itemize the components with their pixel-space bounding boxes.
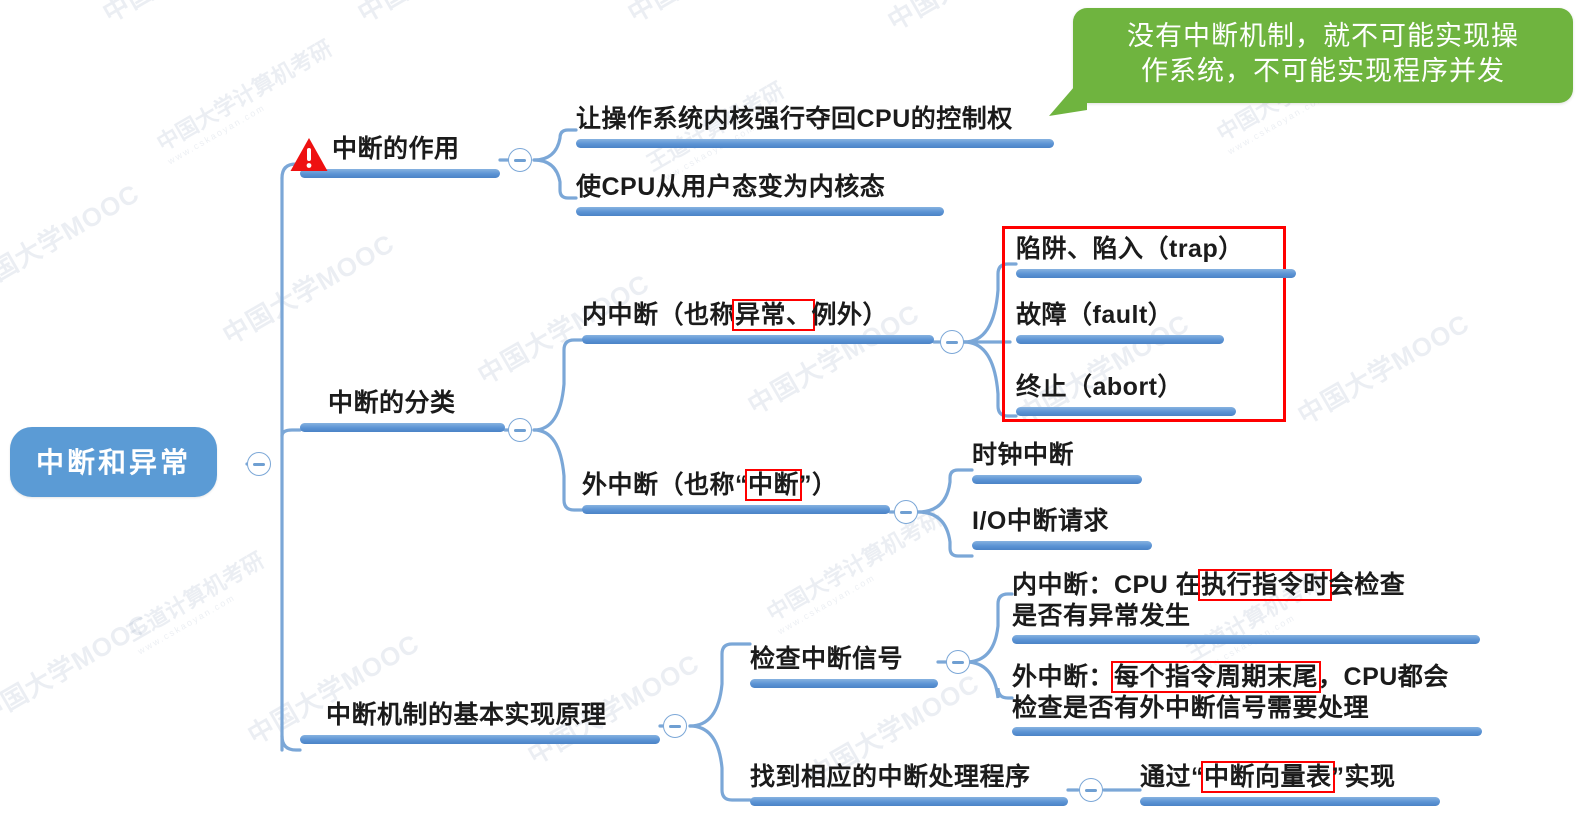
leaf-vector-table-bar: [1140, 797, 1440, 806]
green-callout[interactable]: 没有中断机制，就不可能实现操 作系统，不可能实现程序并发: [1073, 8, 1573, 103]
branch-interrupt-mechanism-toggle[interactable]: [663, 714, 687, 738]
node-check-signal-toggle[interactable]: [946, 650, 970, 674]
leaf-vector-table-label: 通过“中断向量表”实现: [1140, 762, 1440, 793]
leaf-internal-check[interactable]: 内中断：CPU 在执行指令时会检查是否有异常发生: [1012, 570, 1482, 644]
node-internal-interrupt-toggle[interactable]: [940, 330, 964, 354]
label-part: 是否有异常发生: [1012, 602, 1191, 630]
leaf-io-interrupt-bar: [972, 541, 1152, 550]
leaf-external-check-bar: [1012, 727, 1482, 736]
leaf-external-check[interactable]: 外中断：每个指令周期末尾，CPU都会检查是否有外中断信号需要处理: [1012, 662, 1484, 736]
node-internal-interrupt-label: 内中断（也称异常、例外）: [582, 300, 934, 331]
label-part: 外中断：: [1012, 663, 1114, 691]
label-part-highlight: 中断: [748, 472, 799, 498]
watermark-brand-sub: www.cskaoyan.com: [136, 571, 274, 657]
label-part-highlight: 每个指令周期末尾: [1114, 664, 1318, 690]
watermark-mooc: 中国大学MOOC: [0, 174, 146, 302]
branch-interrupt-purpose-bar: [300, 169, 500, 178]
callout-tail-icon: [1047, 70, 1087, 118]
branch-interrupt-mechanism-bar: [300, 735, 660, 744]
branch-interrupt-mechanism-label: 中断机制的基本实现原理: [300, 700, 660, 731]
watermark-mooc: 中国大学MOOC: [880, 0, 1066, 38]
node-find-handler[interactable]: 找到相应的中断处理程序: [750, 762, 1068, 806]
label-part: ，CPU都会: [1318, 663, 1449, 691]
warning-triangle-icon: [289, 136, 329, 174]
label-part: 内中断：CPU 在: [1012, 571, 1201, 599]
node-external-interrupt-label: 外中断（也称“中断”）: [582, 470, 890, 501]
label-part: 例外）: [812, 301, 889, 329]
leaf-reclaim-cpu[interactable]: 让操作系统内核强行夺回CPU的控制权: [576, 104, 1054, 148]
label-part: ”）: [799, 471, 838, 499]
watermark-brand-sub: www.cskaoyan.com: [776, 529, 952, 637]
leaf-io-interrupt-label: I/O中断请求: [972, 506, 1152, 537]
leaf-clock-interrupt[interactable]: 时钟中断: [972, 440, 1142, 484]
watermark-mooc: 中国大学MOOC: [95, 0, 281, 30]
leaf-internal-check-bar: [1012, 635, 1480, 644]
branch-interrupt-purpose-toggle[interactable]: [508, 148, 532, 172]
root-node-pill[interactable]: 中断和异常: [10, 427, 217, 497]
leaf-fault-bar: [1016, 335, 1224, 344]
branch-interrupt-purpose[interactable]: 中断的作用: [300, 134, 500, 178]
label-part: ”实现: [1332, 763, 1396, 791]
leaf-fault[interactable]: 故障（fault）: [1016, 300, 1224, 344]
leaf-trap-bar: [1016, 269, 1296, 278]
label-part-highlight: 异常、: [735, 302, 812, 328]
leaf-abort-bar: [1016, 407, 1236, 416]
node-check-signal-bar: [750, 679, 938, 688]
watermark-mooc: 中国大学MOOC: [620, 0, 806, 30]
watermark-brand: 王道计算机考研 www.cskaoyan.com: [120, 543, 274, 656]
label-part: 内中断（也称: [582, 301, 735, 329]
root-collapse-toggle[interactable]: [247, 452, 271, 476]
branch-interrupt-classification-label: 中断的分类: [300, 388, 505, 419]
leaf-reclaim-cpu-label: 让操作系统内核强行夺回CPU的控制权: [576, 104, 1054, 135]
node-check-signal[interactable]: 检查中断信号: [750, 644, 938, 688]
root-node-label: 中断和异常: [36, 447, 191, 478]
node-external-interrupt-bar: [582, 505, 890, 514]
leaf-fault-label: 故障（fault）: [1016, 300, 1224, 331]
node-find-handler-label: 找到相应的中断处理程序: [750, 762, 1068, 793]
leaf-user-to-kernel[interactable]: 使CPU从用户态变为内核态: [576, 172, 944, 216]
leaf-clock-interrupt-bar: [972, 475, 1142, 484]
watermark-mooc: 中国大学MOOC: [350, 0, 536, 30]
node-find-handler-bar: [750, 797, 1068, 806]
leaf-clock-interrupt-label: 时钟中断: [972, 440, 1142, 471]
node-check-signal-label: 检查中断信号: [750, 644, 938, 675]
watermark-mooc: 中国大学MOOC: [1290, 304, 1476, 432]
watermark-brand-text: 中国大学计算机考研: [763, 505, 947, 626]
leaf-vector-table[interactable]: 通过“中断向量表”实现: [1140, 762, 1440, 806]
label-part: 外中断（也称“: [582, 471, 748, 499]
watermark-brand: 中国大学计算机考研 www.cskaoyan.com: [760, 501, 952, 636]
branch-interrupt-mechanism[interactable]: 中断机制的基本实现原理: [300, 700, 660, 744]
watermark-brand-text: 王道计算机考研: [123, 547, 269, 646]
green-callout-text: 没有中断机制，就不可能实现操 作系统，不可能实现程序并发: [1089, 19, 1557, 89]
leaf-trap[interactable]: 陷阱、陷入（trap）: [1016, 234, 1296, 278]
leaf-external-check-label: 外中断：每个指令周期末尾，CPU都会检查是否有外中断信号需要处理: [1012, 662, 1484, 723]
leaf-trap-label: 陷阱、陷入（trap）: [1016, 234, 1296, 265]
node-internal-interrupt[interactable]: 内中断（也称异常、例外）: [582, 300, 934, 344]
leaf-io-interrupt[interactable]: I/O中断请求: [972, 506, 1152, 550]
label-part: 检查是否有外中断信号需要处理: [1012, 694, 1369, 722]
leaf-reclaim-cpu-bar: [576, 139, 1054, 148]
label-part: 会检查: [1329, 571, 1406, 599]
node-external-interrupt-toggle[interactable]: [894, 500, 918, 524]
green-callout-bubble[interactable]: 没有中断机制，就不可能实现操 作系统，不可能实现程序并发: [1073, 8, 1573, 103]
node-find-handler-toggle[interactable]: [1079, 778, 1103, 802]
label-part-highlight: 中断向量表: [1204, 764, 1332, 790]
branch-interrupt-purpose-label: 中断的作用: [300, 134, 500, 165]
node-internal-interrupt-bar: [582, 335, 934, 344]
label-part: 通过“: [1140, 763, 1204, 791]
node-external-interrupt[interactable]: 外中断（也称“中断”）: [582, 470, 890, 514]
leaf-user-to-kernel-label: 使CPU从用户态变为内核态: [576, 172, 944, 203]
watermark-mooc: 中国大学MOOC: [0, 604, 156, 732]
branch-interrupt-classification-toggle[interactable]: [508, 418, 532, 442]
branch-interrupt-classification[interactable]: 中断的分类: [300, 388, 505, 432]
leaf-abort-label: 终止（abort）: [1016, 372, 1236, 403]
label-part-highlight: 执行指令时: [1201, 572, 1329, 598]
branch-interrupt-classification-bar: [300, 423, 505, 432]
leaf-abort[interactable]: 终止（abort）: [1016, 372, 1236, 416]
leaf-user-to-kernel-bar: [576, 207, 944, 216]
leaf-internal-check-label: 内中断：CPU 在执行指令时会检查是否有异常发生: [1012, 570, 1482, 631]
watermark-mooc: 中国大学MOOC: [215, 224, 401, 352]
root-node[interactable]: 中断和异常: [10, 427, 217, 497]
